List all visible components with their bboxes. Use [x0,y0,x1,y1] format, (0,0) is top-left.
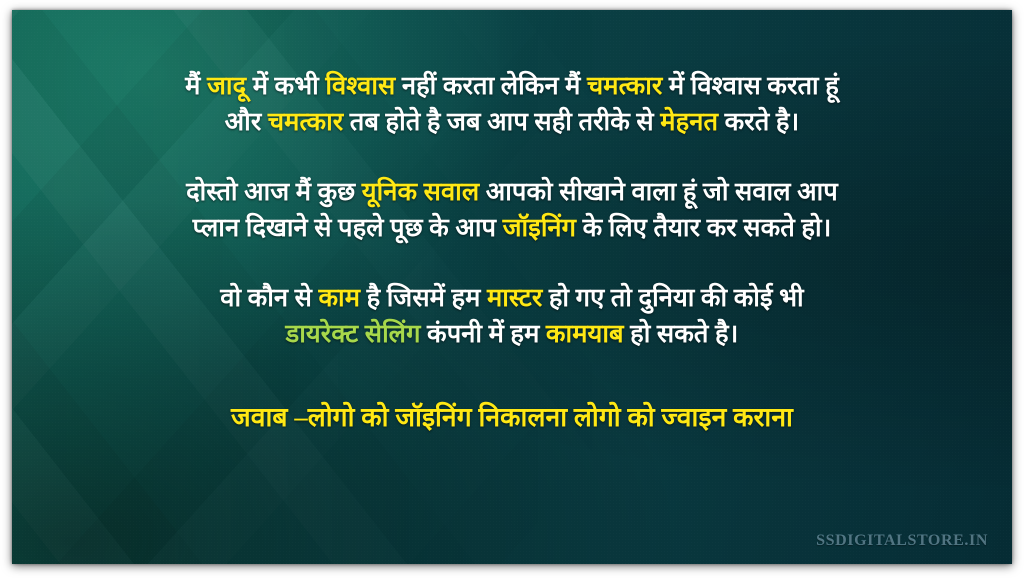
quote-line-3-2: डायरेक्ट सेलिंग कंपनी में हम कामयाब हो स… [12,316,1012,352]
poster-frame: मैं जादू में कभी विश्वास नहीं करता लेकिन… [0,0,1024,578]
body-text: हो गए तो दुनिया की कोई भी [542,283,803,312]
highlighted-word: विश्वास [325,71,395,100]
site-watermark: SSDIGITALSTORE.IN [816,532,988,550]
body-text: दोस्तो आज मैं कुछ [186,177,362,206]
body-text: और [225,107,268,136]
body-text: प्लान दिखाने से पहले पूछ के आप [193,213,503,242]
highlighted-word: मेहनत [660,107,718,136]
body-text: करते है। [718,107,799,136]
body-text: कंपनी में हम [421,319,546,348]
answer-text: जवाब –लोगो को जॉइनिंग निकालना लोगो को ज्… [231,402,793,432]
body-text: नहीं करता लेकिन मैं [395,71,587,100]
quote-line-4-1: जवाब –लोगो को जॉइनिंग निकालना लोगो को ज्… [12,398,1012,436]
highlighted-word: यूनिक सवाल [362,177,480,206]
quote-paragraph-3: वो कौन से काम है जिसमें हम मास्टर हो गए … [12,280,1012,352]
quote-paragraph-1: मैं जादू में कभी विश्वास नहीं करता लेकिन… [12,68,1012,140]
highlighted-word: चमत्कार [587,71,662,100]
highlighted-word: काम [318,283,360,312]
highlighted-word-green: डायरेक्ट सेलिंग [286,319,421,348]
highlighted-word: चमत्कार [268,107,343,136]
quote-line-2-1: दोस्तो आज मैं कुछ यूनिक सवाल आपको सीखाने… [12,174,1012,210]
body-text: वो कौन से [220,283,318,312]
body-text: में कभी [246,71,325,100]
highlighted-word: कामयाब [546,319,624,348]
quote-line-2-2: प्लान दिखाने से पहले पूछ के आप जॉइनिंग क… [12,210,1012,246]
body-text: के लिए तैयार कर सकते हो। [576,213,831,242]
quote-text-block: मैं जादू में कभी विश्वास नहीं करता लेकिन… [12,10,1012,564]
poster-canvas: मैं जादू में कभी विश्वास नहीं करता लेकिन… [12,10,1012,564]
body-text: हो सकते है। [624,319,739,348]
body-text: आपको सीखाने वाला हूं जो सवाल आप [479,177,838,206]
highlighted-word: जादू [207,71,246,100]
body-text: मैं [185,71,207,100]
highlighted-word: जॉइनिंग [503,213,577,242]
quote-paragraph-2: दोस्तो आज मैं कुछ यूनिक सवाल आपको सीखाने… [12,174,1012,246]
quote-line-3-1: वो कौन से काम है जिसमें हम मास्टर हो गए … [12,280,1012,316]
highlighted-word: मास्टर [487,283,542,312]
body-text: में विश्वास करता हूं [662,71,838,100]
quote-line-1-1: मैं जादू में कभी विश्वास नहीं करता लेकिन… [12,68,1012,104]
quote-line-1-2: और चमत्कार तब होते है जब आप सही तरीके से… [12,104,1012,140]
quote-paragraph-4: जवाब –लोगो को जॉइनिंग निकालना लोगो को ज्… [12,398,1012,436]
body-text: है जिसमें हम [360,283,487,312]
body-text: तब होते है जब आप सही तरीके से [343,107,660,136]
